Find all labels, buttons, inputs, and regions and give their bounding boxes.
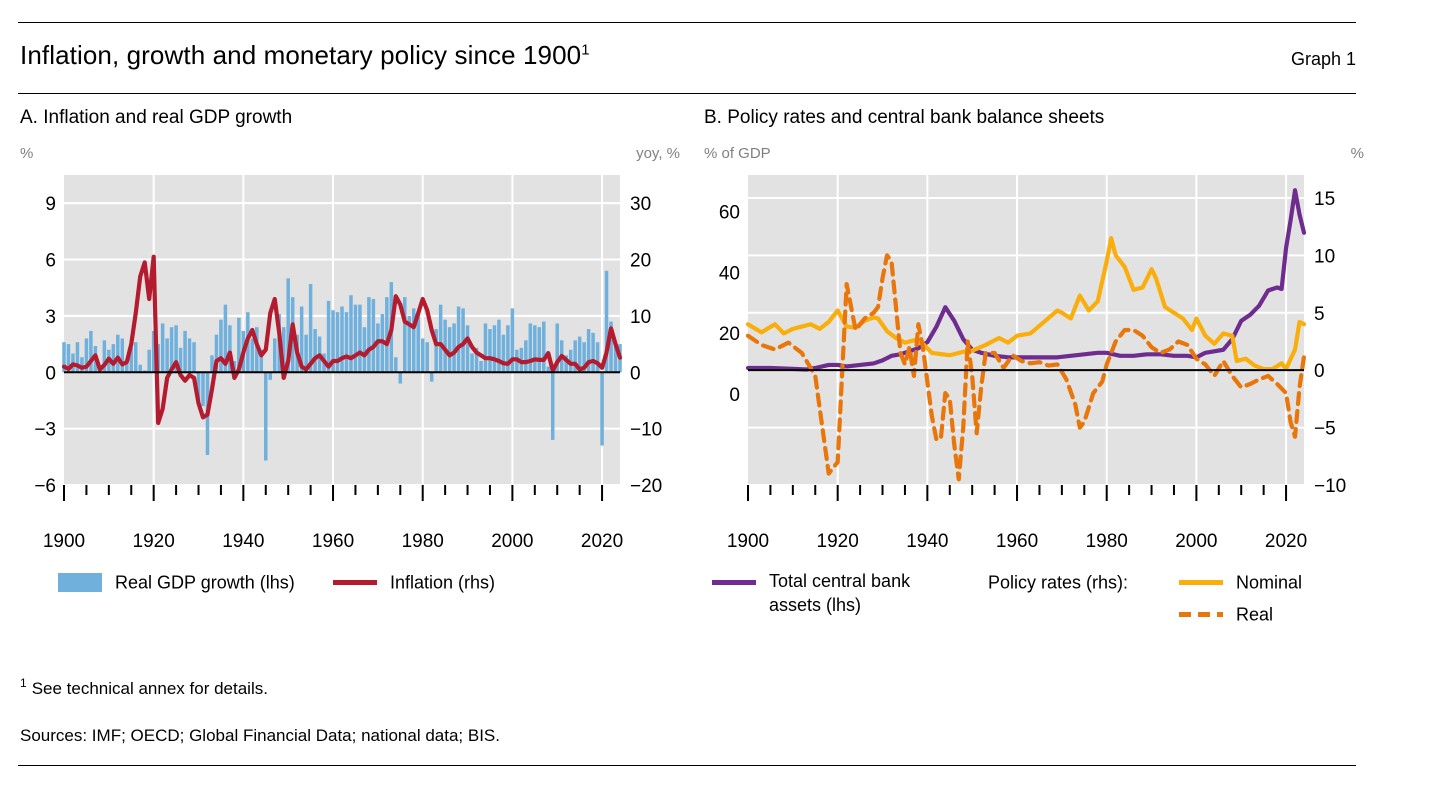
legend-line-real: [1179, 612, 1223, 617]
panel-a: A. Inflation and real GDP growth % yoy, …: [20, 108, 680, 619]
legend-swatch-real-gdp-growth: [58, 573, 102, 592]
y-tick-label-left: 9: [45, 194, 56, 215]
legend-item-inflation: Inflation (rhs): [333, 569, 495, 594]
x-tick-label: 1980: [1086, 531, 1128, 553]
y-tick-label-left: 60: [719, 202, 740, 223]
y-tick-label-right: 15: [1314, 189, 1335, 210]
legend-label-real: Real: [1236, 604, 1273, 624]
x-tick-label: 1980: [402, 531, 444, 553]
panel-b-chart: 6040200151050−5−10: [704, 167, 1364, 527]
footnote-marker: 1: [20, 676, 27, 690]
legend-line-inflation: [333, 580, 377, 585]
legend-label-cb-assets-line1: Total central bank: [769, 571, 910, 591]
page-title-text: Inflation, growth and monetary policy si…: [20, 40, 581, 70]
y-tick-label-right: 10: [1314, 246, 1335, 267]
legend-item-real-gdp-growth: Real GDP growth (lhs): [58, 569, 295, 594]
legend-label-cb-assets-line2: assets (lhs): [769, 593, 910, 617]
legend-item-nominal: Nominal: [1179, 569, 1302, 594]
x-tick-label: 1960: [996, 531, 1038, 553]
y-tick-label-left: −6: [34, 476, 56, 497]
legend-group-label-policy-rates: Policy rates (rhs):: [988, 572, 1128, 592]
footnote: 1See technical annex for details.: [20, 680, 268, 697]
legend-line-central-bank-assets: [712, 580, 756, 585]
footnote-text: See technical annex for details.: [32, 679, 268, 698]
y-tick-label-left: −3: [34, 420, 56, 441]
panel-a-legend: Real GDP growth (lhs) Inflation (rhs): [20, 569, 680, 619]
legend-group-policy-rates: Policy rates (rhs):: [988, 569, 1128, 594]
y-tick-label-right: 10: [630, 307, 651, 328]
y-tick-label-left: 3: [45, 307, 56, 328]
y-tick-label-left: 0: [729, 385, 740, 406]
graph-number: Graph 1: [1291, 49, 1356, 70]
y-tick-label-right: −10: [630, 420, 662, 441]
y-tick-label-right: −10: [1314, 476, 1346, 497]
x-tick-label: 2000: [491, 531, 533, 553]
y-tick-label-right: −5: [1314, 419, 1336, 440]
legend-label-real-gdp-growth: Real GDP growth (lhs): [115, 572, 295, 592]
x-tick-label: 2000: [1175, 531, 1217, 553]
legend-label-central-bank-assets: Total central bankassets (lhs): [769, 569, 910, 617]
x-tick-label: 1920: [133, 531, 175, 553]
y-tick-label-right: 0: [1314, 361, 1325, 382]
legend-item-real: Real: [1179, 601, 1273, 626]
page-title: Inflation, growth and monetary policy si…: [20, 42, 590, 68]
x-tick-label: 2020: [1265, 531, 1307, 553]
panel-a-chart: 9630−3−63020100−10−20: [20, 167, 680, 527]
legend-item-central-bank-assets: Total central bankassets (lhs): [712, 569, 910, 617]
title-rule: [18, 93, 1356, 94]
y-tick-label-left: 6: [45, 251, 56, 272]
panel-b: B. Policy rates and central bank balance…: [704, 108, 1364, 639]
x-tick-label: 1900: [727, 531, 769, 553]
panel-b-legend: Total central bankassets (lhs) Policy ra…: [704, 569, 1364, 639]
panel-b-units: % of GDP %: [704, 145, 1364, 167]
y-tick-label-right: 5: [1314, 304, 1325, 325]
sources-line: Sources: IMF; OECD; Global Financial Dat…: [20, 727, 500, 744]
x-tick-label: 1940: [222, 531, 264, 553]
y-tick-label-right: −20: [630, 476, 662, 497]
y-tick-label-right: 30: [630, 194, 651, 215]
panel-a-unit-right: yoy, %: [636, 145, 680, 162]
x-tick-label: 1920: [817, 531, 859, 553]
panel-a-unit-left: %: [20, 145, 33, 162]
x-tick-label: 1940: [906, 531, 948, 553]
page-title-footnote-marker: 1: [581, 41, 589, 58]
graph-page: Inflation, growth and monetary policy si…: [0, 0, 1442, 790]
panel-a-title: A. Inflation and real GDP growth: [20, 108, 680, 127]
bottom-rule: [18, 765, 1356, 766]
legend-line-nominal: [1179, 580, 1223, 585]
x-tick-label: 2020: [581, 531, 623, 553]
panel-b-plot: 6040200151050−5−10: [704, 167, 1364, 527]
top-rule: [18, 22, 1356, 23]
panel-b-unit-right: %: [1351, 145, 1364, 162]
y-tick-label-left: 0: [45, 363, 56, 384]
panel-a-units: % yoy, %: [20, 145, 680, 167]
panel-a-plot: 9630−3−63020100−10−20: [20, 167, 680, 527]
legend-label-inflation: Inflation (rhs): [390, 572, 495, 592]
panel-b-x-tick-labels: 1900192019401960198020002020: [704, 527, 1364, 557]
legend-label-nominal: Nominal: [1236, 572, 1302, 592]
x-tick-label: 1960: [312, 531, 354, 553]
y-tick-label-left: 40: [719, 263, 740, 284]
y-tick-label-right: 20: [630, 251, 651, 272]
panel-a-x-tick-labels: 1900192019401960198020002020: [20, 527, 680, 557]
y-tick-label-right: 0: [630, 363, 641, 384]
x-tick-label: 1900: [43, 531, 85, 553]
panel-b-title: B. Policy rates and central bank balance…: [704, 108, 1364, 127]
y-tick-label-left: 20: [719, 324, 740, 345]
panel-b-unit-left: % of GDP: [704, 145, 771, 162]
